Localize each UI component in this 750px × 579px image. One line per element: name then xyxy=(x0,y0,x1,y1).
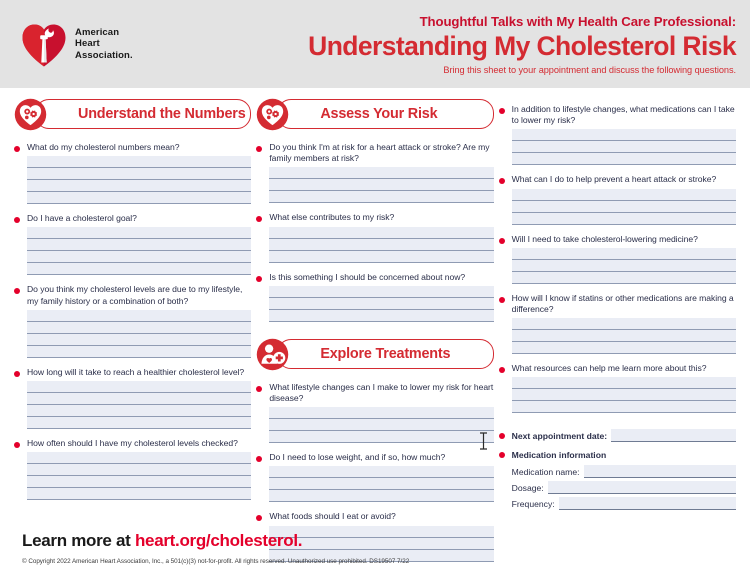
page-header: American Heart Association. Thoughtful T… xyxy=(0,0,750,88)
medication-name-input[interactable] xyxy=(584,465,736,478)
frequency-row: Frequency: xyxy=(512,497,736,510)
question-block: How long will it take to reach a healthi… xyxy=(14,367,251,429)
answer-line[interactable] xyxy=(27,464,251,476)
person-heart-cross-icon xyxy=(256,338,289,371)
answer-lines[interactable] xyxy=(27,156,251,204)
copyright-text: © Copyright 2022 American Heart Associat… xyxy=(22,558,750,565)
content-columns: Understand the Numbers What do my choles… xyxy=(0,98,750,571)
answer-lines[interactable] xyxy=(27,310,251,358)
section-header-understand-the-numbers: Understand the Numbers xyxy=(14,98,251,130)
question-row: Do I have a cholesterol goal? xyxy=(14,213,251,224)
section-header-explore-treatments: Explore Treatments xyxy=(256,338,493,370)
answer-line[interactable] xyxy=(27,488,251,500)
question-row: Will I need to take cholesterol-lowering… xyxy=(499,234,736,245)
question-row: What else contributes to my risk? xyxy=(256,212,493,223)
answer-line[interactable] xyxy=(27,251,251,263)
answer-line[interactable] xyxy=(512,213,736,225)
answer-line[interactable] xyxy=(27,393,251,405)
answer-line[interactable] xyxy=(269,167,493,179)
answer-line[interactable] xyxy=(27,239,251,251)
worksheet-page: American Heart Association. Thoughtful T… xyxy=(0,0,750,579)
answer-line[interactable] xyxy=(27,192,251,204)
next-appointment-label: Next appointment date: xyxy=(512,430,608,442)
logo-line-3: Association. xyxy=(75,50,133,62)
answer-line[interactable] xyxy=(512,141,736,153)
answer-line[interactable] xyxy=(269,298,493,310)
answer-line[interactable] xyxy=(27,263,251,275)
answer-lines[interactable] xyxy=(269,407,493,443)
question-text: What lifestyle changes can I make to low… xyxy=(269,382,493,404)
bullet-icon xyxy=(499,452,505,458)
answer-line[interactable] xyxy=(27,452,251,464)
aha-logo-wordmark: American Heart Association. xyxy=(75,27,133,62)
question-row: What resources can help me learn more ab… xyxy=(499,363,736,374)
column-assess-and-treatments: Assess Your Risk Do you think I'm at ris… xyxy=(256,98,493,571)
answer-lines[interactable] xyxy=(27,227,251,275)
answer-line[interactable] xyxy=(512,318,736,330)
answer-lines[interactable] xyxy=(269,286,493,322)
question-text: In addition to lifestyle changes, what m… xyxy=(512,104,736,126)
dosage-row: Dosage: xyxy=(512,481,736,494)
question-block: Do you think I'm at risk for a heart att… xyxy=(256,142,493,203)
bullet-icon xyxy=(256,146,262,152)
question-text: Do you think I'm at risk for a heart att… xyxy=(269,142,493,164)
medication-name-row: Medication name: xyxy=(512,465,736,478)
question-block: Will I need to take cholesterol-lowering… xyxy=(499,234,736,284)
bullet-icon xyxy=(14,371,20,377)
column-medications: In addition to lifestyle changes, what m… xyxy=(499,98,736,571)
answer-lines[interactable] xyxy=(512,129,736,165)
answer-line[interactable] xyxy=(512,201,736,213)
answer-line[interactable] xyxy=(27,310,251,322)
answer-lines[interactable] xyxy=(269,167,493,203)
question-text: What can I do to help prevent a heart at… xyxy=(512,174,717,185)
answer-line[interactable] xyxy=(269,310,493,322)
answer-lines[interactable] xyxy=(269,466,493,502)
heart-gears-icon xyxy=(14,98,47,131)
logo-line-1: American xyxy=(75,27,133,39)
bullet-icon xyxy=(256,216,262,222)
answer-line[interactable] xyxy=(512,189,736,201)
answer-lines[interactable] xyxy=(269,227,493,263)
column-understand-the-numbers: Understand the Numbers What do my choles… xyxy=(14,98,251,571)
question-block: What else contributes to my risk? xyxy=(256,212,493,262)
question-text: What do my cholesterol numbers mean? xyxy=(27,142,179,153)
question-text: How will I know if statins or other medi… xyxy=(512,293,736,315)
section-title-understand-the-numbers: Understand the Numbers xyxy=(78,106,246,122)
appointment-fields-group: Next appointment date: Medication inform… xyxy=(499,429,736,510)
answer-line[interactable] xyxy=(269,239,493,251)
answer-line[interactable] xyxy=(27,405,251,417)
question-row: In addition to lifestyle changes, what m… xyxy=(499,104,736,126)
answer-line[interactable] xyxy=(512,260,736,272)
answer-line[interactable] xyxy=(269,419,493,431)
answer-line[interactable] xyxy=(269,407,493,419)
bullet-icon xyxy=(499,108,505,114)
answer-line[interactable] xyxy=(512,401,736,413)
question-block: How often should I have my cholesterol l… xyxy=(14,438,251,500)
question-row: How often should I have my cholesterol l… xyxy=(14,438,251,449)
question-text: Do I have a cholesterol goal? xyxy=(27,213,137,224)
answer-line[interactable] xyxy=(27,168,251,180)
answer-line[interactable] xyxy=(512,389,736,401)
question-text: What resources can help me learn more ab… xyxy=(512,363,707,374)
question-block: What resources can help me learn more ab… xyxy=(499,363,736,413)
frequency-label: Frequency: xyxy=(512,498,555,510)
answer-line[interactable] xyxy=(512,153,736,165)
header-subtitle: Bring this sheet to your appointment and… xyxy=(216,64,736,76)
answer-line[interactable] xyxy=(512,330,736,342)
bullet-icon xyxy=(256,386,262,392)
answer-lines[interactable] xyxy=(512,248,736,284)
answer-line[interactable] xyxy=(269,179,493,191)
learn-more-line: Learn more at heart.org/cholesterol. xyxy=(22,531,750,551)
question-row: Do you think my cholesterol levels are d… xyxy=(14,284,251,306)
next-appointment-row: Next appointment date: xyxy=(499,429,736,442)
question-row: Do you think I'm at risk for a heart att… xyxy=(256,142,493,164)
question-text: Do you think my cholesterol levels are d… xyxy=(27,284,251,306)
header-titles: Thoughtful Talks with My Health Care Pro… xyxy=(216,14,736,76)
answer-line[interactable] xyxy=(512,342,736,354)
section-title-explore-treatments: Explore Treatments xyxy=(320,346,450,362)
question-block: Is this something I should be concerned … xyxy=(256,272,493,322)
header-kicker: Thoughtful Talks with My Health Care Pro… xyxy=(216,14,736,30)
section-title-assess-your-risk: Assess Your Risk xyxy=(320,106,437,122)
answer-line[interactable] xyxy=(269,227,493,239)
answer-lines[interactable] xyxy=(27,381,251,429)
question-row: What do my cholesterol numbers mean? xyxy=(14,142,251,153)
medication-information-label: Medication information xyxy=(512,449,607,461)
heart-org-link[interactable]: heart.org/cholesterol. xyxy=(135,531,302,550)
next-appointment-input[interactable] xyxy=(611,429,736,442)
bullet-icon xyxy=(499,178,505,184)
answer-line[interactable] xyxy=(269,431,493,443)
question-row: What foods should I eat or avoid? xyxy=(256,511,493,522)
question-block: Do you think my cholesterol levels are d… xyxy=(14,284,251,357)
bullet-icon xyxy=(256,456,262,462)
answer-line[interactable] xyxy=(269,286,493,298)
bullet-icon xyxy=(499,238,505,244)
page-footer: Learn more at heart.org/cholesterol. © C… xyxy=(0,531,750,579)
answer-line[interactable] xyxy=(512,129,736,141)
question-row: Do I need to lose weight, and if so, how… xyxy=(256,452,493,463)
answer-lines[interactable] xyxy=(512,318,736,354)
section-pill-understand-the-numbers: Understand the Numbers xyxy=(35,99,251,129)
answer-line[interactable] xyxy=(27,322,251,334)
question-text: How often should I have my cholesterol l… xyxy=(27,438,238,449)
answer-lines[interactable] xyxy=(512,189,736,225)
dosage-label: Dosage: xyxy=(512,482,544,494)
heart-torch-logo-icon xyxy=(22,21,66,67)
question-text: What else contributes to my risk? xyxy=(269,212,394,223)
bullet-icon xyxy=(499,367,505,373)
question-text: How long will it take to reach a healthi… xyxy=(27,367,244,378)
answer-line[interactable] xyxy=(269,490,493,502)
answer-line[interactable] xyxy=(269,478,493,490)
answer-line[interactable] xyxy=(27,346,251,358)
answer-line[interactable] xyxy=(27,334,251,346)
answer-line[interactable] xyxy=(512,248,736,260)
answer-line[interactable] xyxy=(27,417,251,429)
question-row: How will I know if statins or other medi… xyxy=(499,293,736,315)
learn-more-prefix: Learn more at xyxy=(22,531,135,550)
answer-lines[interactable] xyxy=(512,377,736,413)
question-block: What do my cholesterol numbers mean? xyxy=(14,142,251,204)
answer-line[interactable] xyxy=(269,251,493,263)
question-block: In addition to lifestyle changes, what m… xyxy=(499,104,736,165)
section-pill-explore-treatments: Explore Treatments xyxy=(277,339,493,369)
bullet-icon xyxy=(14,288,20,294)
question-block: What can I do to help prevent a heart at… xyxy=(499,174,736,224)
answer-line[interactable] xyxy=(269,191,493,203)
bullet-icon xyxy=(14,217,20,223)
answer-line[interactable] xyxy=(27,180,251,192)
answer-line[interactable] xyxy=(27,156,251,168)
aha-logo: American Heart Association. xyxy=(22,21,133,67)
question-block: What lifestyle changes can I make to low… xyxy=(256,382,493,443)
question-row: What lifestyle changes can I make to low… xyxy=(256,382,493,404)
question-block: How will I know if statins or other medi… xyxy=(499,293,736,354)
bullet-icon xyxy=(14,442,20,448)
answer-line[interactable] xyxy=(27,227,251,239)
bullet-icon xyxy=(499,433,505,439)
answer-line[interactable] xyxy=(512,272,736,284)
bullet-icon xyxy=(256,276,262,282)
page-title: Understanding My Cholesterol Risk xyxy=(216,31,736,61)
question-text: Will I need to take cholesterol-lowering… xyxy=(512,234,698,245)
answer-line[interactable] xyxy=(512,377,736,389)
medication-name-label: Medication name: xyxy=(512,466,580,478)
logo-line-2: Heart xyxy=(75,38,133,50)
bullet-icon xyxy=(14,146,20,152)
medication-information-row: Medication information xyxy=(499,449,736,461)
answer-lines[interactable] xyxy=(27,452,251,500)
answer-line[interactable] xyxy=(27,381,251,393)
question-block: Do I need to lose weight, and if so, how… xyxy=(256,452,493,502)
question-row: Is this something I should be concerned … xyxy=(256,272,493,283)
answer-line[interactable] xyxy=(27,476,251,488)
frequency-input[interactable] xyxy=(559,497,736,510)
question-row: How long will it take to reach a healthi… xyxy=(14,367,251,378)
section-pill-assess-your-risk: Assess Your Risk xyxy=(277,99,493,129)
heart-gears-icon xyxy=(256,98,289,131)
question-text: What foods should I eat or avoid? xyxy=(269,511,395,522)
section-header-assess-your-risk: Assess Your Risk xyxy=(256,98,493,130)
bullet-icon xyxy=(499,297,505,303)
question-row: What can I do to help prevent a heart at… xyxy=(499,174,736,185)
question-block: Do I have a cholesterol goal? xyxy=(14,213,251,275)
question-text: Do I need to lose weight, and if so, how… xyxy=(269,452,445,463)
bullet-icon xyxy=(256,515,262,521)
dosage-input[interactable] xyxy=(548,481,736,494)
question-text: Is this something I should be concerned … xyxy=(269,272,465,283)
answer-line[interactable] xyxy=(269,466,493,478)
